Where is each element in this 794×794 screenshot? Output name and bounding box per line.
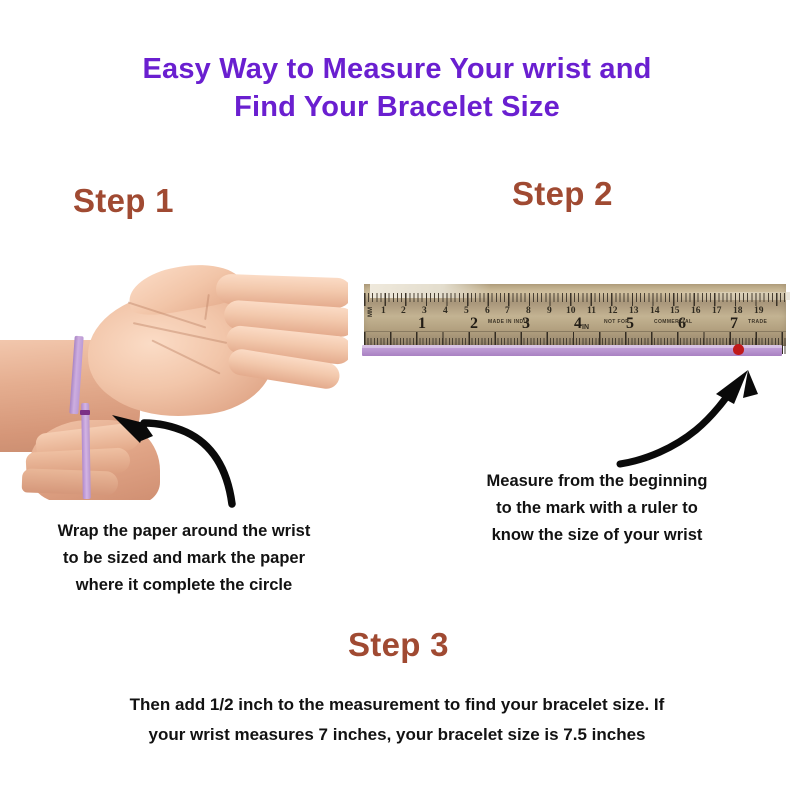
ruler-inch-label: 1 [418, 315, 426, 333]
ruler-cm-label: 16 [691, 306, 701, 316]
ruler-cm-label: 6 [485, 306, 490, 316]
ruler-imprint-commercial: COMMERCIAL [654, 319, 692, 325]
ruler-cm-label: 7 [505, 306, 510, 316]
step-2-caption-line-1: Measure from the beginning [408, 468, 786, 495]
ruler-cm-label: 14 [650, 306, 660, 316]
arrow-to-ruler-mark-icon [616, 368, 776, 473]
paper-strip-tail [81, 403, 91, 499]
step-2-caption-line-2: to the mark with a ruler to [408, 495, 786, 522]
ruler-body: MM IN 1 2 3 4 5 6 7 8 9 10 11 12 13 14 1… [364, 284, 786, 346]
ruler-cm-label: 5 [464, 306, 469, 316]
ruler-cm-label: 19 [754, 306, 764, 316]
ruler-imprint-made-in-india: MADE IN INDIA [488, 319, 529, 325]
arrow-to-wrist-mark-icon [100, 398, 250, 508]
step-3-caption-line-1: Then add 1/2 inch to the measurement to … [57, 690, 737, 720]
ruler-cm-label: 2 [401, 306, 406, 316]
paper-strip-mark [80, 410, 90, 415]
ruler-mm-unit-label: MM [368, 307, 374, 317]
step-2-heading: Step 2 [512, 175, 613, 213]
step-2-caption: Measure from the beginning to the mark w… [408, 468, 786, 549]
step-2-caption-line-3: know the size of your wrist [408, 522, 786, 549]
ruler-cm-label: 1 [381, 306, 386, 316]
ruler-cm-label: 9 [547, 306, 552, 316]
ruler-cm-label: 4 [443, 306, 448, 316]
ruler-imprint-not-for: NOT FOR [604, 319, 629, 325]
ruler-inch-unit-label: IN [582, 324, 589, 331]
ruler-cm-label: 11 [587, 306, 596, 316]
step-3-heading: Step 3 [348, 626, 449, 664]
step-1-caption: Wrap the paper around the wrist to be si… [0, 518, 368, 599]
page-title-line-2: Find Your Bracelet Size [0, 88, 794, 126]
paper-strip-highlight [362, 345, 782, 348]
ruler-photo: MM IN 1 2 3 4 5 6 7 8 9 10 11 12 13 14 1… [362, 276, 788, 368]
ruler-imprint-trade: TRADE [748, 319, 767, 325]
step-1-heading: Step 1 [73, 182, 174, 220]
step-3-caption: Then add 1/2 inch to the measurement to … [57, 690, 737, 750]
step-1-caption-line-3: where it complete the circle [0, 572, 368, 599]
ruler-cm-label: 17 [712, 306, 722, 316]
page-title-line-1: Easy Way to Measure Your wrist and [0, 50, 794, 88]
step-1-caption-line-1: Wrap the paper around the wrist [0, 518, 368, 545]
wrist-measuring-infographic: Easy Way to Measure Your wrist and Find … [0, 0, 794, 794]
step-1-caption-line-2: to be sized and mark the paper [0, 545, 368, 572]
ruler-cm-label: 12 [608, 306, 618, 316]
paper-strip-red-mark [733, 344, 744, 355]
ruler-inch-label: 2 [470, 315, 478, 333]
ruler-inch-label: 4 [574, 315, 582, 333]
ruler-inch-label: 7 [730, 315, 738, 333]
page-title: Easy Way to Measure Your wrist and Find … [0, 50, 794, 126]
ruler-cm-major-ticks [364, 293, 786, 306]
step-3-caption-line-2: your wrist measures 7 inches, your brace… [57, 720, 737, 750]
